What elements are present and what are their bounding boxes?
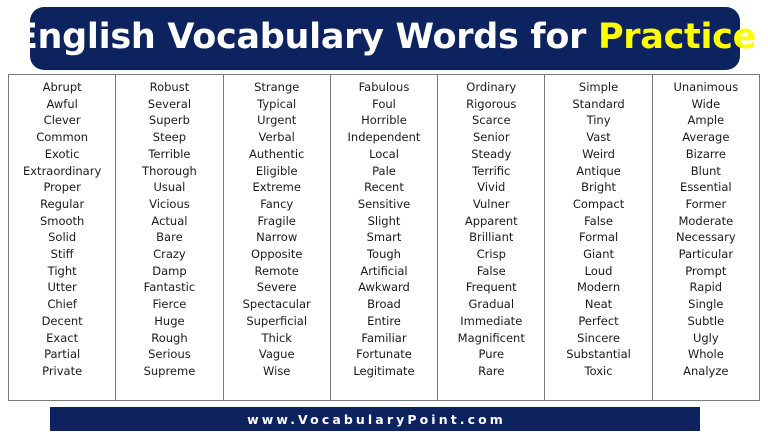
word-item: Frequent	[438, 279, 544, 296]
word-item: Broad	[331, 296, 437, 313]
word-item: Superficial	[224, 313, 330, 330]
word-item: Awkward	[331, 279, 437, 296]
word-item: Ugly	[653, 330, 759, 347]
word-item: Eligible	[224, 163, 330, 180]
word-item: Robust	[116, 79, 222, 96]
word-item: Neat	[545, 296, 651, 313]
word-item: Severe	[224, 279, 330, 296]
word-item: Bare	[116, 229, 222, 246]
word-item: Average	[653, 129, 759, 146]
word-item: Blunt	[653, 163, 759, 180]
word-item: Bright	[545, 179, 651, 196]
word-item: Pale	[331, 163, 437, 180]
word-item: Recent	[331, 179, 437, 196]
word-item: Immediate	[438, 313, 544, 330]
page-title: English Vocabulary Words for Practice	[14, 20, 756, 57]
word-item: Sensitive	[331, 196, 437, 213]
word-column-1: AbruptAwfulCleverCommonExoticExtraordina…	[9, 75, 116, 400]
word-item: Familiar	[331, 330, 437, 347]
word-item: Opposite	[224, 246, 330, 263]
word-item: Moderate	[653, 213, 759, 230]
word-column-2: RobustSeveralSuperbSteepTerribleThorough…	[116, 75, 223, 400]
footer-banner: www.VocabularyPoint.com	[50, 407, 700, 431]
word-item: Essential	[653, 179, 759, 196]
word-item: Steady	[438, 146, 544, 163]
word-item: Senior	[438, 129, 544, 146]
vocabulary-word-table: AbruptAwfulCleverCommonExoticExtraordina…	[8, 74, 760, 401]
word-item: Spectacular	[224, 296, 330, 313]
word-item: Awful	[9, 96, 115, 113]
word-column-7: UnanimousWideAmpleAverageBizarreBluntEss…	[653, 75, 759, 400]
word-item: Legitimate	[331, 363, 437, 380]
word-item: Toxic	[545, 363, 651, 380]
word-item: Stiff	[9, 246, 115, 263]
word-item: Partial	[9, 346, 115, 363]
word-item: Huge	[116, 313, 222, 330]
word-item: Vicious	[116, 196, 222, 213]
word-item: Foul	[331, 96, 437, 113]
word-column-4: FabulousFoulHorribleIndependentLocalPale…	[331, 75, 438, 400]
word-item: Actual	[116, 213, 222, 230]
word-item: Single	[653, 296, 759, 313]
word-item: Superb	[116, 112, 222, 129]
word-item: Loud	[545, 263, 651, 280]
word-item: Analyze	[653, 363, 759, 380]
word-item: Vulner	[438, 196, 544, 213]
word-item: Vast	[545, 129, 651, 146]
word-item: Thorough	[116, 163, 222, 180]
word-item: Simple	[545, 79, 651, 96]
word-item: Tough	[331, 246, 437, 263]
word-item: Extraordinary	[9, 163, 115, 180]
word-item: Supreme	[116, 363, 222, 380]
word-item: Tight	[9, 263, 115, 280]
title-banner: English Vocabulary Words for Practice	[30, 7, 740, 70]
word-item: Prompt	[653, 263, 759, 280]
word-item: Artificial	[331, 263, 437, 280]
word-item: Several	[116, 96, 222, 113]
word-item: Giant	[545, 246, 651, 263]
word-item: Extreme	[224, 179, 330, 196]
word-item: Serious	[116, 346, 222, 363]
word-item: Fantastic	[116, 279, 222, 296]
word-item: Abrupt	[9, 79, 115, 96]
word-item: Gradual	[438, 296, 544, 313]
word-item: Magnificent	[438, 330, 544, 347]
word-item: Urgent	[224, 112, 330, 129]
word-item: Whole	[653, 346, 759, 363]
word-item: Brilliant	[438, 229, 544, 246]
word-item: Fortunate	[331, 346, 437, 363]
word-item: Pure	[438, 346, 544, 363]
page-title-highlight: Practice	[598, 17, 756, 57]
word-item: Common	[9, 129, 115, 146]
page-title-main: English Vocabulary Words for	[14, 17, 598, 57]
word-item: Fancy	[224, 196, 330, 213]
word-item: Proper	[9, 179, 115, 196]
word-item: Remote	[224, 263, 330, 280]
word-item: Steep	[116, 129, 222, 146]
word-item: False	[438, 263, 544, 280]
word-item: Rare	[438, 363, 544, 380]
word-item: Utter	[9, 279, 115, 296]
word-item: Chief	[9, 296, 115, 313]
word-item: Subtle	[653, 313, 759, 330]
word-item: Private	[9, 363, 115, 380]
word-item: Compact	[545, 196, 651, 213]
word-item: Wide	[653, 96, 759, 113]
word-item: Ordinary	[438, 79, 544, 96]
word-item: Fabulous	[331, 79, 437, 96]
word-item: Vague	[224, 346, 330, 363]
word-item: Antique	[545, 163, 651, 180]
word-item: Former	[653, 196, 759, 213]
website-url: www.VocabularyPoint.com	[244, 412, 506, 427]
word-item: Regular	[9, 196, 115, 213]
word-item: Wise	[224, 363, 330, 380]
word-item: Rigorous	[438, 96, 544, 113]
word-column-5: OrdinaryRigorousScarceSeniorSteadyTerrif…	[438, 75, 545, 400]
word-item: Horrible	[331, 112, 437, 129]
word-item: Scarce	[438, 112, 544, 129]
word-item: Modern	[545, 279, 651, 296]
word-item: Apparent	[438, 213, 544, 230]
word-item: Local	[331, 146, 437, 163]
word-item: Rough	[116, 330, 222, 347]
word-item: Verbal	[224, 129, 330, 146]
word-item: Ample	[653, 112, 759, 129]
word-item: Typical	[224, 96, 330, 113]
word-item: Authentic	[224, 146, 330, 163]
word-item: Entire	[331, 313, 437, 330]
word-item: Terrific	[438, 163, 544, 180]
word-item: Crazy	[116, 246, 222, 263]
word-item: Weird	[545, 146, 651, 163]
word-item: Independent	[331, 129, 437, 146]
word-item: Solid	[9, 229, 115, 246]
word-item: Exact	[9, 330, 115, 347]
word-item: Decent	[9, 313, 115, 330]
word-item: Rapid	[653, 279, 759, 296]
word-item: Strange	[224, 79, 330, 96]
word-item: Crisp	[438, 246, 544, 263]
word-item: Unanimous	[653, 79, 759, 96]
word-item: Fierce	[116, 296, 222, 313]
word-item: Tiny	[545, 112, 651, 129]
word-column-3: StrangeTypicalUrgentVerbalAuthenticEligi…	[224, 75, 331, 400]
word-column-6: SimpleStandardTinyVastWeirdAntiqueBright…	[545, 75, 652, 400]
word-item: Vivid	[438, 179, 544, 196]
word-item: Substantial	[545, 346, 651, 363]
word-item: Fragile	[224, 213, 330, 230]
word-item: Necessary	[653, 229, 759, 246]
word-item: Sincere	[545, 330, 651, 347]
word-item: Exotic	[9, 146, 115, 163]
word-item: Narrow	[224, 229, 330, 246]
word-item: Smart	[331, 229, 437, 246]
word-item: Standard	[545, 96, 651, 113]
word-item: Slight	[331, 213, 437, 230]
word-item: False	[545, 213, 651, 230]
word-item: Usual	[116, 179, 222, 196]
word-item: Bizarre	[653, 146, 759, 163]
word-item: Terrible	[116, 146, 222, 163]
word-item: Particular	[653, 246, 759, 263]
word-item: Smooth	[9, 213, 115, 230]
word-item: Perfect	[545, 313, 651, 330]
word-item: Thick	[224, 330, 330, 347]
word-item: Formal	[545, 229, 651, 246]
word-item: Damp	[116, 263, 222, 280]
word-item: Clever	[9, 112, 115, 129]
